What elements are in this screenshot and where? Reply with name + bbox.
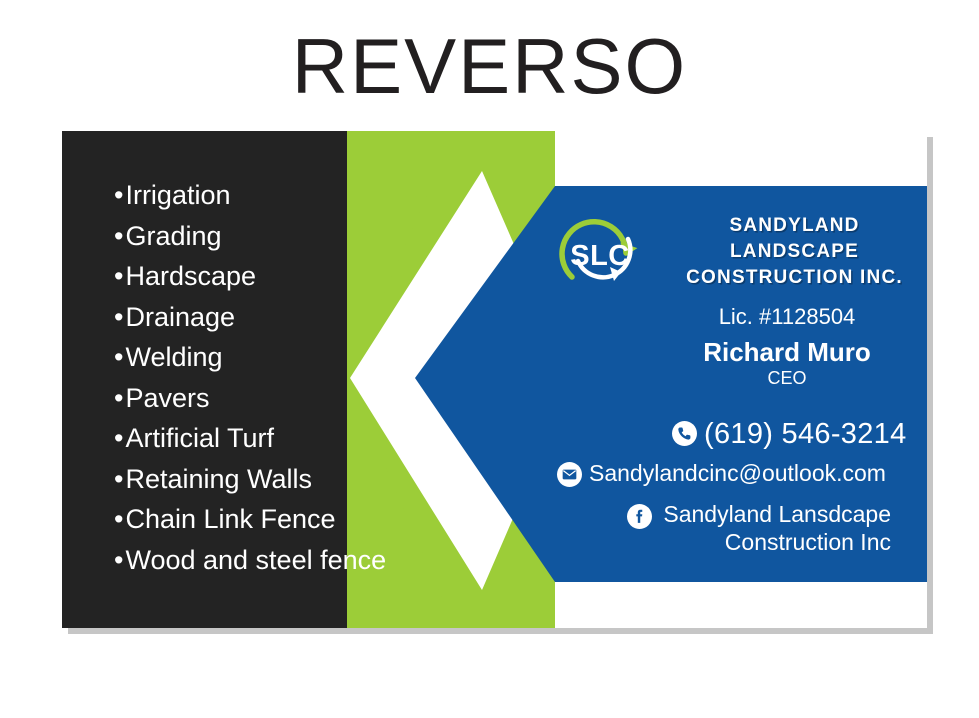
company-name-line-2: LANDSCAPE [662, 239, 927, 265]
person-name: Richard Muro [647, 337, 927, 368]
contact-phone-row[interactable]: (619) 546-3214 [672, 417, 907, 451]
list-item: Grading [114, 216, 444, 257]
circular-arrows-logo-icon: SLC [552, 209, 648, 305]
services-list: Irrigation Grading Hardscape Drainage We… [114, 175, 444, 580]
list-item: Retaining Walls [114, 459, 444, 500]
facebook-page-name: Sandyland LansdcapeConstruction Inc [659, 500, 891, 556]
facebook-line-2: Construction Inc [725, 529, 891, 555]
list-item: Hardscape [114, 256, 444, 297]
phone-number: (619) 546-3214 [704, 417, 907, 451]
contact-facebook-row[interactable]: Sandyland LansdcapeConstruction Inc [627, 500, 891, 556]
svg-text:SLC: SLC [570, 240, 630, 272]
list-item: Wood and steel fence [114, 540, 444, 581]
company-name-line-3: CONSTRUCTION INC. [662, 265, 927, 291]
company-name: SANDYLAND LANDSCAPE CONSTRUCTION INC. [662, 213, 927, 291]
person-role: CEO [647, 367, 927, 389]
company-name-line-1: SANDYLAND [662, 213, 927, 239]
list-item: Pavers [114, 378, 444, 419]
list-item: Welding [114, 337, 444, 378]
list-item: Artificial Turf [114, 418, 444, 459]
list-item: Drainage [114, 297, 444, 338]
contact-email-row[interactable]: Sandylandcinc@outlook.com [557, 458, 886, 488]
facebook-icon [627, 504, 652, 529]
email-address: Sandylandcinc@outlook.com [589, 458, 886, 488]
facebook-line-1: Sandyland Lansdcape [663, 501, 891, 527]
phone-icon [672, 421, 697, 446]
license-number: Lic. #1128504 [647, 303, 927, 331]
list-item: Irrigation [114, 175, 444, 216]
business-card: Irrigation Grading Hardscape Drainage We… [62, 131, 927, 628]
list-item: Chain Link Fence [114, 499, 444, 540]
page-title: REVERSO [0, 18, 979, 114]
envelope-icon [557, 462, 582, 487]
